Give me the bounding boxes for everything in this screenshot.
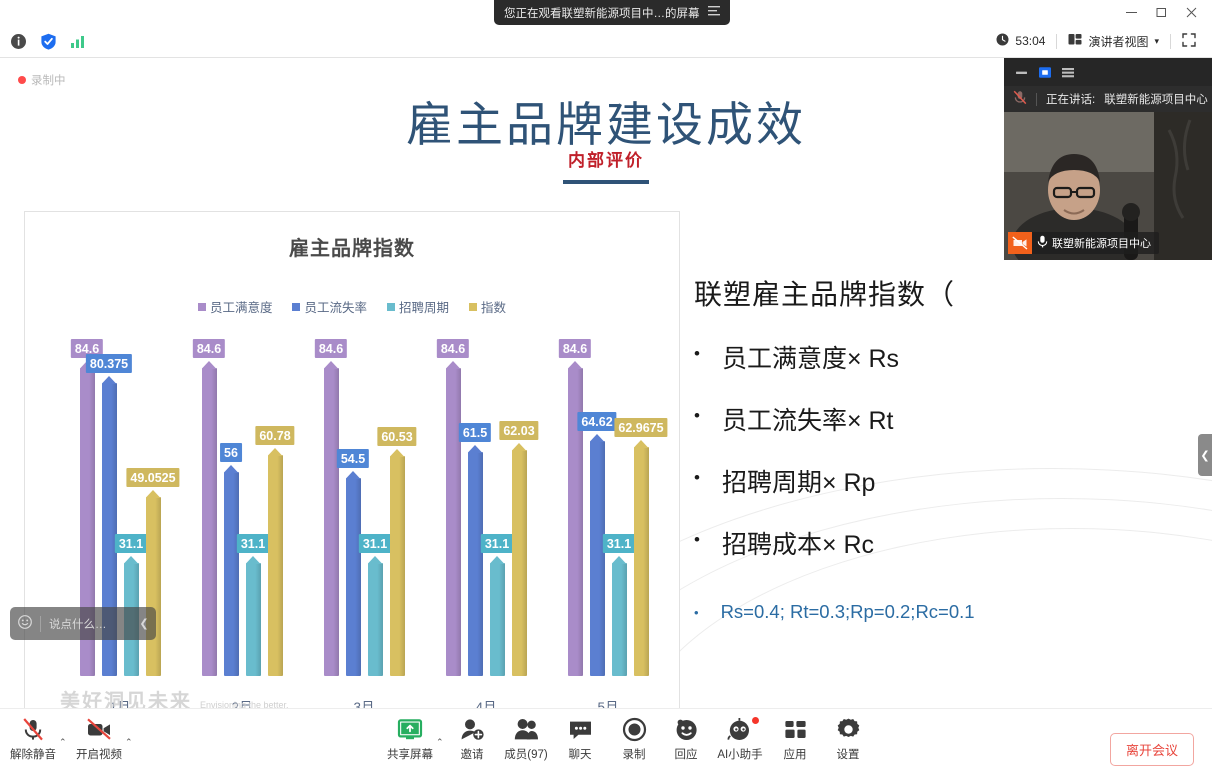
status-right-zone: 53:04 演讲者视图 ▾ xyxy=(985,29,1212,53)
meeting-timer: 53:04 xyxy=(985,29,1056,53)
legend-item-2: 招聘周期 xyxy=(387,297,449,316)
bullet-glyph: • xyxy=(694,601,699,625)
chart-bar-cap xyxy=(490,556,505,564)
video-off-icon xyxy=(86,717,112,742)
panel-collapse-handle[interactable]: ❮ xyxy=(1198,434,1212,476)
chart-bar xyxy=(390,456,405,676)
chart-bar-cap xyxy=(146,490,161,498)
formula-bullet-0: •员工满意度× Rs xyxy=(694,339,1194,375)
chart-legend: 员工满意度员工流失率招聘周期指数 xyxy=(25,297,679,316)
chart-bar xyxy=(268,455,283,676)
formula-bullet-text: 招聘成本× Rc xyxy=(722,525,874,561)
chart-bar xyxy=(202,368,217,676)
apps-icon xyxy=(783,717,808,742)
toolbar-item-label: 成员(97) xyxy=(504,746,547,762)
chart-bar-cap xyxy=(324,361,339,369)
chart-data-label: 84.6 xyxy=(315,339,347,358)
chart-bar-cap xyxy=(590,434,605,442)
chart-data-label: 84.6 xyxy=(437,339,469,358)
chart-bar xyxy=(146,497,161,676)
layout-icon xyxy=(1068,33,1082,49)
weights-row: • Rs=0.4; Rt=0.3;Rp=0.2;Rc=0.1 xyxy=(694,601,1194,625)
legend-item-3: 指数 xyxy=(469,297,506,316)
chart-x-label: 5月 xyxy=(597,696,618,708)
chart-bar xyxy=(512,450,527,676)
participants-icon xyxy=(514,717,539,742)
footer-en-text: Envisioning the better. xyxy=(200,700,289,708)
formula-bullet-2: •招聘周期× Rp xyxy=(694,463,1194,499)
chart-bar-cap xyxy=(346,471,361,479)
toolbar-item-label: 共享屏幕 xyxy=(387,746,433,762)
chart-bar xyxy=(346,478,361,676)
minimize-button[interactable] xyxy=(1116,0,1146,25)
formula-bullet-list: •员工满意度× Rs•员工流失率× Rt•招聘周期× Rp•招聘成本× Rc xyxy=(694,339,1194,561)
chart-bar-cap xyxy=(568,361,583,369)
mic-off-icon xyxy=(21,717,45,742)
chart-bar xyxy=(634,447,649,676)
video-panel-toolbar xyxy=(1004,58,1212,86)
toolbar-item-label: 聊天 xyxy=(569,746,592,762)
title-underline xyxy=(563,180,649,184)
chart-bar-cap xyxy=(368,556,383,564)
chart-data-label: 56 xyxy=(220,443,242,462)
chart-data-label: 61.5 xyxy=(459,423,491,442)
chart-bar-cap xyxy=(124,556,139,564)
bullet-glyph: • xyxy=(694,339,700,369)
bullet-glyph: • xyxy=(694,525,700,555)
formula-heading: 联塑雇主品牌指数（ xyxy=(694,273,1194,313)
chart-bar-cap xyxy=(268,448,283,456)
reaction-icon xyxy=(674,717,699,742)
chart-data-label: 49.0525 xyxy=(126,468,179,487)
chart-data-label: 31.1 xyxy=(237,534,269,553)
video-off-icon xyxy=(1008,232,1032,254)
toolbar-item-label: 回应 xyxy=(675,746,698,762)
chart-data-label: 31.1 xyxy=(115,534,147,553)
chart-bar xyxy=(612,563,627,676)
ai-assistant-icon xyxy=(727,717,753,742)
network-signal-icon[interactable] xyxy=(70,33,87,50)
chart-data-label: 62.03 xyxy=(499,421,538,440)
speaking-label: 正在讲话: xyxy=(1046,91,1095,107)
legend-swatch xyxy=(387,303,395,311)
legend-label: 招聘周期 xyxy=(399,297,449,316)
chevron-left-icon[interactable]: ❮ xyxy=(132,617,156,630)
formula-bullet-1: •员工流失率× Rt xyxy=(694,401,1194,437)
menu-icon[interactable] xyxy=(708,6,720,19)
chart-data-label: 84.6 xyxy=(193,339,225,358)
legend-swatch xyxy=(292,303,300,311)
invite-icon xyxy=(460,717,485,742)
chat-icon xyxy=(568,717,593,742)
meeting-timer-text: 53:04 xyxy=(1015,34,1045,48)
toolbar-item-label: 解除静音 xyxy=(10,746,56,762)
divider xyxy=(1036,93,1037,106)
formula-bullet-text: 员工满意度× Rs xyxy=(722,339,899,375)
meeting-status-bar: 53:04 演讲者视图 ▾ xyxy=(0,25,1212,58)
chart-data-label: 31.1 xyxy=(359,534,391,553)
chart-bar-cap xyxy=(446,361,461,369)
slide-footer-logo: 美好洞见未来 Envisioning the better. xyxy=(60,685,289,708)
chart-data-label: 54.5 xyxy=(337,449,369,468)
participant-name-text: 联塑新能源项目中心 xyxy=(1052,235,1159,251)
toolbar-item-label: 应用 xyxy=(784,746,807,762)
chart-bar xyxy=(246,563,261,676)
chart-bar xyxy=(224,472,239,676)
legend-swatch xyxy=(198,303,206,311)
list-icon[interactable] xyxy=(1060,64,1077,81)
minimize-icon[interactable] xyxy=(1014,64,1031,81)
formula-bullet-text: 招聘周期× Rp xyxy=(722,463,876,499)
chart-bar-cap xyxy=(612,556,627,564)
chart-data-label: 62.9675 xyxy=(614,418,667,437)
toolbar-item-label: 录制 xyxy=(623,746,646,762)
chart-data-label: 64.62 xyxy=(577,412,616,431)
chart-bar xyxy=(468,452,483,676)
meeting-toolbar: 离开会议 解除静音⌃开启视频⌃共享屏幕⌃邀请成员(97)聊天录制回应AI小助手应… xyxy=(0,708,1212,771)
chart-bar-cap xyxy=(512,443,527,451)
chart-bar-cap xyxy=(102,376,117,384)
chart-data-label: 80.375 xyxy=(86,354,132,373)
bullet-glyph: • xyxy=(694,463,700,493)
toolbar-item-label: 开启视频 xyxy=(76,746,122,762)
maximize-icon[interactable] xyxy=(1037,64,1054,81)
toolbar-item-label: 邀请 xyxy=(461,746,484,762)
toolbar-item-设置[interactable]: 设置 xyxy=(811,717,885,765)
chart-bar xyxy=(590,441,605,676)
legend-item-0: 员工满意度 xyxy=(198,297,273,316)
chart-bar-cap xyxy=(634,440,649,448)
mic-muted-icon xyxy=(1013,90,1027,108)
chart-bar-cap xyxy=(390,449,405,457)
legend-label: 员工流失率 xyxy=(304,297,367,316)
bullet-glyph: • xyxy=(694,401,700,431)
share-screen-icon xyxy=(397,717,423,742)
toolbar-item-label: 设置 xyxy=(837,746,860,762)
toolbar-item-label: AI小助手 xyxy=(717,746,762,762)
smiley-icon[interactable] xyxy=(10,615,40,632)
chart-title: 雇主品牌指数 xyxy=(25,232,679,261)
chart-bar xyxy=(446,368,461,676)
mic-icon xyxy=(1032,235,1052,251)
legend-label: 员工满意度 xyxy=(210,297,273,316)
fullscreen-button[interactable] xyxy=(1171,29,1204,53)
view-mode-label: 演讲者视图 xyxy=(1088,33,1148,50)
chart-data-label: 84.6 xyxy=(559,339,591,358)
footer-cn-text: 美好洞见未来 xyxy=(60,685,192,708)
chart-x-label: 3月 xyxy=(353,696,374,708)
window-title-bar: 您正在观看联塑新能源项目中…的屏幕 xyxy=(0,0,1212,25)
legend-item-1: 员工流失率 xyxy=(292,297,367,316)
maximize-button[interactable] xyxy=(1146,0,1176,25)
screen-share-notice-text: 您正在观看联塑新能源项目中…的屏幕 xyxy=(504,5,700,21)
formula-bullet-text: 员工流失率× Rt xyxy=(722,401,894,437)
legend-swatch xyxy=(469,303,477,311)
chart-bar-cap xyxy=(224,465,239,473)
index-formula-block: 联塑雇主品牌指数（ •员工满意度× Rs•员工流失率× Rt•招聘周期× Rp•… xyxy=(694,273,1194,625)
clock-icon xyxy=(996,33,1009,49)
leave-meeting-button[interactable]: 离开会议 xyxy=(1110,733,1194,766)
window-controls xyxy=(1116,0,1206,25)
quick-chat-input[interactable]: 说点什么… ❮ xyxy=(10,607,156,640)
chart-bar-cap xyxy=(202,361,217,369)
chart-x-label: 4月 xyxy=(475,696,496,708)
shield-icon[interactable] xyxy=(40,33,57,50)
active-speaker-bar: 正在讲话: 联塑新能源项目中心 xyxy=(1004,86,1212,112)
formula-bullet-3: •招聘成本× Rc xyxy=(694,525,1194,561)
chart-bar-cap xyxy=(468,445,483,453)
view-mode-selector[interactable]: 演讲者视图 ▾ xyxy=(1057,29,1170,53)
chevron-up-icon[interactable]: ⌃ xyxy=(125,737,133,748)
weights-text: Rs=0.4; Rt=0.3;Rp=0.2;Rc=0.1 xyxy=(721,601,975,623)
record-dot-icon xyxy=(18,76,26,84)
chevron-down-icon: ▾ xyxy=(1154,36,1159,47)
chart-data-label: 60.53 xyxy=(377,427,416,446)
chart-bar xyxy=(368,563,383,676)
record-icon xyxy=(622,717,647,742)
fullscreen-icon xyxy=(1182,33,1196,50)
chat-input-placeholder[interactable]: 说点什么… xyxy=(40,616,132,632)
legend-label: 指数 xyxy=(481,297,506,316)
chart-bar-cap xyxy=(246,556,261,564)
chart-data-label: 31.1 xyxy=(603,534,635,553)
screen-share-notice[interactable]: 您正在观看联塑新能源项目中…的屏幕 xyxy=(494,0,730,25)
chart-bar xyxy=(324,368,339,676)
video-feed[interactable]: 联塑新能源项目中心 xyxy=(1004,112,1212,260)
settings-gear-icon xyxy=(836,717,861,742)
speaking-name: 联塑新能源项目中心 xyxy=(1104,91,1208,107)
chart-data-label: 31.1 xyxy=(481,534,513,553)
presenter-video-panel: 正在讲话: 联塑新能源项目中心 xyxy=(1004,58,1212,260)
info-icon[interactable] xyxy=(10,33,27,50)
close-button[interactable] xyxy=(1176,0,1206,25)
status-left-icons xyxy=(0,33,87,50)
chart-bar xyxy=(490,563,505,676)
chart-data-label: 60.78 xyxy=(255,426,294,445)
participant-name-badge: 联塑新能源项目中心 xyxy=(1008,232,1159,254)
